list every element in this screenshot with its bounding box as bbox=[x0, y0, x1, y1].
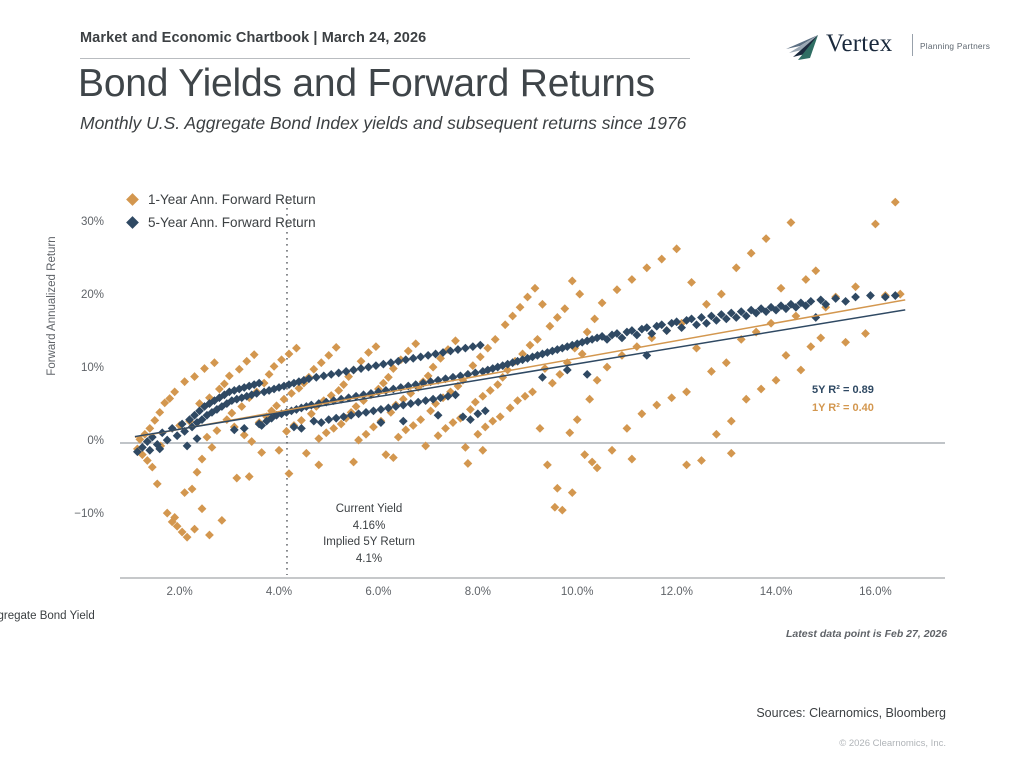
x-tick-label: 10.0% bbox=[547, 586, 607, 598]
data-point bbox=[513, 396, 522, 405]
data-point bbox=[170, 388, 179, 397]
data-point bbox=[732, 263, 741, 272]
data-point bbox=[449, 418, 458, 427]
data-point bbox=[707, 367, 716, 376]
x-tick-label: 16.0% bbox=[845, 586, 905, 598]
data-point bbox=[682, 388, 691, 397]
data-point bbox=[424, 351, 433, 360]
legend-label-5y: 5-Year Ann. Forward Return bbox=[148, 215, 316, 230]
data-point bbox=[531, 284, 540, 293]
data-point bbox=[593, 463, 602, 472]
data-point bbox=[727, 417, 736, 426]
data-point bbox=[583, 370, 592, 379]
data-point bbox=[550, 503, 559, 512]
data-point bbox=[712, 430, 721, 439]
data-point bbox=[282, 427, 291, 436]
data-point bbox=[861, 329, 870, 338]
data-point bbox=[377, 405, 386, 414]
data-point bbox=[568, 277, 577, 286]
data-point bbox=[349, 458, 358, 467]
data-point bbox=[188, 485, 197, 494]
data-point bbox=[208, 443, 217, 452]
data-point bbox=[811, 266, 820, 275]
data-point bbox=[312, 373, 321, 382]
data-point bbox=[285, 350, 294, 359]
data-point bbox=[496, 412, 505, 421]
latest-data-note: Latest data point is Feb 27, 2026 bbox=[786, 628, 947, 640]
data-point bbox=[163, 509, 172, 518]
data-point bbox=[466, 405, 475, 414]
data-point bbox=[777, 284, 786, 293]
data-point bbox=[155, 408, 164, 417]
data-point bbox=[324, 351, 333, 360]
data-point bbox=[285, 469, 294, 478]
data-point bbox=[488, 417, 497, 426]
data-point bbox=[434, 431, 443, 440]
y-tick-label: 30% bbox=[58, 216, 104, 228]
data-point bbox=[334, 386, 343, 395]
data-point bbox=[200, 364, 209, 373]
data-point bbox=[362, 430, 371, 439]
data-point bbox=[247, 437, 256, 446]
data-point bbox=[816, 333, 825, 342]
data-point bbox=[831, 294, 840, 303]
data-point bbox=[508, 312, 517, 321]
data-point bbox=[796, 366, 805, 375]
data-point bbox=[409, 354, 418, 363]
data-point bbox=[583, 328, 592, 337]
data-point bbox=[213, 426, 222, 435]
sources-text: Sources: Clearnomics, Bloomberg bbox=[686, 705, 946, 721]
data-point bbox=[603, 363, 612, 372]
data-point bbox=[687, 278, 696, 287]
data-point bbox=[528, 388, 537, 397]
data-point bbox=[190, 525, 199, 534]
data-point bbox=[302, 449, 311, 458]
data-point bbox=[225, 371, 234, 380]
current-yield-label: Current Yield bbox=[250, 501, 488, 518]
data-point bbox=[429, 363, 438, 372]
data-point bbox=[478, 392, 487, 401]
data-point bbox=[590, 315, 599, 324]
data-point bbox=[841, 297, 850, 306]
y-tick-label: 10% bbox=[58, 362, 104, 374]
data-point bbox=[332, 414, 341, 423]
data-point bbox=[324, 415, 333, 424]
data-point bbox=[881, 293, 890, 302]
data-point bbox=[667, 393, 676, 402]
data-point bbox=[461, 344, 470, 353]
data-point bbox=[352, 402, 361, 411]
data-point bbox=[372, 361, 381, 370]
data-point bbox=[232, 474, 241, 483]
data-point bbox=[250, 350, 259, 359]
data-point bbox=[533, 335, 542, 344]
data-point bbox=[801, 275, 810, 284]
data-point bbox=[672, 244, 681, 253]
data-point bbox=[851, 282, 860, 291]
data-point bbox=[811, 313, 820, 322]
data-point bbox=[468, 342, 477, 351]
data-point bbox=[573, 415, 582, 424]
data-point bbox=[521, 392, 530, 401]
x-tick-label: 14.0% bbox=[746, 586, 806, 598]
data-point bbox=[468, 361, 477, 370]
data-point bbox=[339, 380, 348, 389]
data-point bbox=[235, 365, 244, 374]
data-point bbox=[275, 446, 284, 455]
data-point bbox=[416, 415, 425, 424]
data-point bbox=[369, 406, 378, 415]
x-axis-label: Starting Aggregate Bond Yield bbox=[0, 610, 1024, 622]
data-point bbox=[747, 249, 756, 258]
data-point bbox=[593, 376, 602, 385]
data-point bbox=[369, 423, 378, 432]
data-point bbox=[787, 218, 796, 227]
data-point bbox=[354, 409, 363, 418]
data-point bbox=[441, 424, 450, 433]
implied-return-value: 4.1% bbox=[250, 551, 488, 568]
data-point bbox=[198, 455, 207, 464]
data-point bbox=[585, 395, 594, 404]
data-point bbox=[526, 341, 535, 350]
data-point bbox=[198, 504, 207, 513]
data-point bbox=[237, 402, 246, 411]
data-point bbox=[406, 399, 415, 408]
slide-root: Market and Economic Chartbook | March 24… bbox=[0, 0, 1024, 768]
data-point bbox=[322, 428, 331, 437]
data-point bbox=[180, 377, 189, 386]
data-point bbox=[314, 434, 323, 443]
data-point bbox=[553, 313, 562, 322]
data-point bbox=[227, 409, 236, 418]
data-point bbox=[697, 313, 706, 322]
data-point bbox=[454, 345, 463, 354]
data-point bbox=[372, 342, 381, 351]
data-point bbox=[461, 443, 470, 452]
data-point bbox=[411, 339, 420, 348]
data-point bbox=[682, 461, 691, 470]
data-point bbox=[143, 456, 152, 465]
data-point bbox=[203, 433, 212, 442]
data-point bbox=[357, 364, 366, 373]
data-point bbox=[866, 291, 875, 300]
data-point bbox=[270, 362, 279, 371]
data-point bbox=[742, 395, 751, 404]
data-point bbox=[317, 418, 326, 427]
data-point bbox=[565, 428, 574, 437]
data-point bbox=[280, 395, 289, 404]
x-tick-label: 2.0% bbox=[150, 586, 210, 598]
data-point bbox=[486, 386, 495, 395]
data-point bbox=[481, 423, 490, 432]
data-point bbox=[538, 373, 547, 382]
data-point bbox=[173, 431, 182, 440]
current-yield-annotation: Current Yield 4.16% Implied 5Y Return 4.… bbox=[250, 501, 488, 567]
legend-label-1y: 1-Year Ann. Forward Return bbox=[148, 192, 316, 207]
data-point bbox=[329, 424, 338, 433]
x-tick-label: 8.0% bbox=[448, 586, 508, 598]
data-point bbox=[297, 424, 306, 433]
data-point bbox=[434, 411, 443, 420]
data-point bbox=[451, 336, 460, 345]
implied-return-label: Implied 5Y Return bbox=[250, 534, 488, 551]
data-point bbox=[364, 363, 373, 372]
data-point bbox=[257, 448, 266, 457]
data-point bbox=[536, 424, 545, 433]
data-point bbox=[379, 379, 388, 388]
data-point bbox=[782, 351, 791, 360]
data-point bbox=[307, 409, 316, 418]
data-point bbox=[240, 424, 249, 433]
data-point bbox=[471, 398, 480, 407]
data-point bbox=[652, 401, 661, 410]
data-point bbox=[426, 406, 435, 415]
data-point bbox=[662, 326, 671, 335]
data-point bbox=[309, 365, 318, 374]
data-point bbox=[722, 358, 731, 367]
data-point bbox=[145, 446, 154, 455]
data-point bbox=[851, 293, 860, 302]
data-point bbox=[327, 370, 336, 379]
data-point bbox=[516, 303, 525, 312]
data-point bbox=[416, 352, 425, 361]
data-point bbox=[265, 370, 274, 379]
series-1y bbox=[133, 198, 905, 542]
data-point bbox=[473, 430, 482, 439]
data-point bbox=[702, 319, 711, 328]
data-point bbox=[501, 320, 510, 329]
data-point bbox=[401, 355, 410, 364]
data-point bbox=[762, 234, 771, 243]
data-point bbox=[466, 415, 475, 424]
data-point bbox=[580, 450, 589, 459]
data-point bbox=[314, 461, 323, 470]
data-point bbox=[478, 446, 487, 455]
data-point bbox=[379, 360, 388, 369]
data-point bbox=[575, 290, 584, 299]
data-point bbox=[414, 398, 423, 407]
data-point bbox=[476, 341, 485, 350]
data-point bbox=[806, 342, 815, 351]
data-point bbox=[145, 424, 154, 433]
data-point bbox=[491, 335, 500, 344]
data-point bbox=[627, 275, 636, 284]
data-point bbox=[523, 293, 532, 302]
data-point bbox=[421, 396, 430, 405]
y-tick-label: −10% bbox=[58, 508, 104, 520]
scatter-chart: Forward Annualized Return Starting Aggre… bbox=[0, 0, 1024, 768]
data-point bbox=[317, 358, 326, 367]
data-point bbox=[463, 459, 472, 468]
data-point bbox=[409, 421, 418, 430]
r2-5y-text: 5Y R² = 0.89 bbox=[812, 381, 874, 399]
data-point bbox=[637, 409, 646, 418]
data-point bbox=[772, 376, 781, 385]
data-point bbox=[277, 355, 286, 364]
data-point bbox=[389, 453, 398, 462]
data-point bbox=[337, 420, 346, 429]
data-point bbox=[697, 456, 706, 465]
data-point bbox=[193, 468, 202, 477]
data-point bbox=[506, 404, 515, 413]
data-point bbox=[309, 417, 318, 426]
data-point bbox=[205, 531, 214, 540]
data-point bbox=[555, 370, 564, 379]
data-point bbox=[588, 458, 597, 467]
data-point bbox=[553, 484, 562, 493]
data-point bbox=[627, 455, 636, 464]
data-point bbox=[476, 352, 485, 361]
data-point bbox=[245, 472, 254, 481]
data-point bbox=[334, 369, 343, 378]
data-point bbox=[692, 320, 701, 329]
data-point bbox=[150, 416, 159, 425]
data-point bbox=[401, 425, 410, 434]
data-point bbox=[841, 338, 850, 347]
legend-item-1y[interactable]: 1-Year Ann. Forward Return bbox=[128, 188, 316, 211]
data-point bbox=[381, 450, 390, 459]
data-point bbox=[292, 344, 301, 353]
data-point bbox=[384, 373, 393, 382]
data-point bbox=[404, 347, 413, 356]
data-point bbox=[364, 348, 373, 357]
data-point bbox=[657, 255, 666, 264]
data-point bbox=[297, 416, 306, 425]
data-point bbox=[290, 423, 299, 432]
data-point bbox=[153, 479, 162, 488]
legend-diamond-1y bbox=[126, 193, 139, 206]
data-point bbox=[148, 463, 157, 472]
data-point bbox=[481, 406, 490, 415]
data-point bbox=[891, 198, 900, 207]
y-tick-label: 20% bbox=[58, 289, 104, 301]
data-point bbox=[568, 488, 577, 497]
data-point bbox=[217, 516, 226, 525]
data-point bbox=[623, 424, 632, 433]
data-point bbox=[362, 408, 371, 417]
data-point bbox=[180, 488, 189, 497]
chart-legend: 1-Year Ann. Forward Return 5-Year Ann. F… bbox=[128, 188, 316, 234]
data-point bbox=[563, 366, 572, 375]
x-tick-label: 6.0% bbox=[348, 586, 408, 598]
data-point bbox=[560, 304, 569, 313]
data-point bbox=[598, 298, 607, 307]
trendline-5y bbox=[135, 310, 905, 437]
data-point bbox=[702, 300, 711, 309]
data-point bbox=[190, 372, 199, 381]
y-axis-label: Forward Annualized Return bbox=[46, 216, 58, 396]
data-point bbox=[757, 385, 766, 394]
data-point bbox=[399, 401, 408, 410]
data-point bbox=[642, 263, 651, 272]
data-point bbox=[548, 379, 557, 388]
data-point bbox=[193, 434, 202, 443]
data-point bbox=[287, 389, 296, 398]
data-point bbox=[613, 285, 622, 294]
current-yield-value: 4.16% bbox=[250, 518, 488, 535]
data-point bbox=[319, 371, 328, 380]
data-point bbox=[242, 357, 251, 366]
data-point bbox=[483, 344, 492, 353]
data-point bbox=[473, 409, 482, 418]
data-point bbox=[727, 449, 736, 458]
data-point bbox=[538, 300, 547, 309]
legend-diamond-5y bbox=[126, 216, 139, 229]
data-point bbox=[545, 322, 554, 331]
copyright-text: © 2026 Clearnomics, Inc. bbox=[686, 738, 946, 749]
data-point bbox=[394, 433, 403, 442]
data-point bbox=[871, 220, 880, 229]
data-point bbox=[558, 506, 567, 515]
data-point bbox=[377, 418, 386, 427]
legend-item-5y[interactable]: 5-Year Ann. Forward Return bbox=[128, 211, 316, 234]
data-point bbox=[349, 366, 358, 375]
x-tick-label: 12.0% bbox=[647, 586, 707, 598]
y-tick-label: 0% bbox=[58, 435, 104, 447]
x-tick-label: 4.0% bbox=[249, 586, 309, 598]
data-point bbox=[543, 461, 552, 470]
data-point bbox=[493, 380, 502, 389]
trendline-1y bbox=[135, 300, 905, 437]
r2-1y-text: 1Y R² = 0.40 bbox=[812, 399, 874, 417]
data-point bbox=[608, 446, 617, 455]
r-squared-annotation: 5Y R² = 0.89 1Y R² = 0.40 bbox=[812, 381, 874, 417]
data-point bbox=[717, 290, 726, 299]
data-point bbox=[210, 358, 219, 367]
data-point bbox=[399, 417, 408, 426]
data-point bbox=[332, 343, 341, 352]
data-point bbox=[391, 402, 400, 411]
